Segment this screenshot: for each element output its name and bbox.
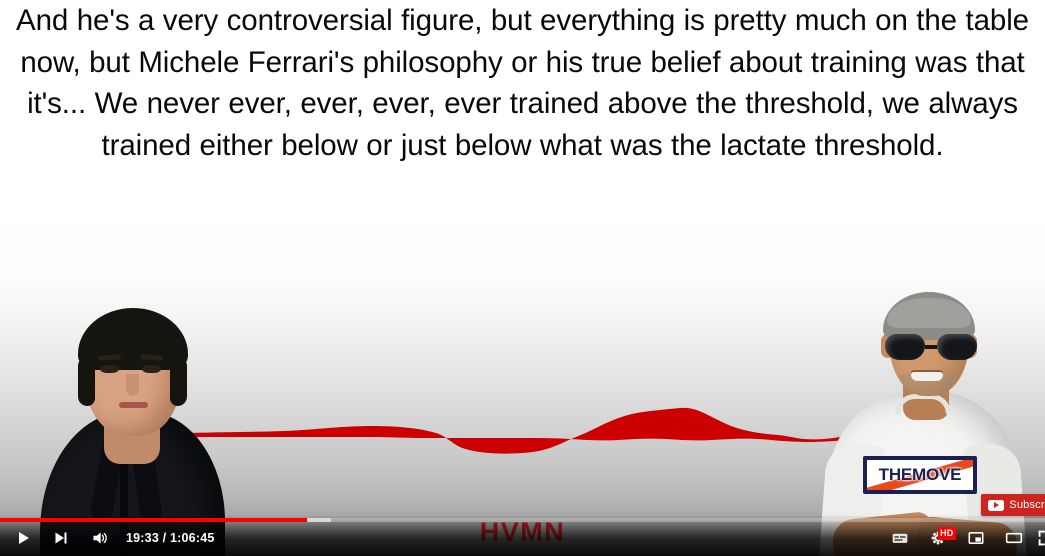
sunglasses-bridge [925,345,937,349]
left-speaker-nose [126,374,139,396]
fullscreen-button[interactable] [1033,519,1045,556]
duration: 1:06:45 [170,531,215,545]
themove-shirt-logo: THEMOVE [863,456,977,494]
video-stage[interactable]: HVMN [0,212,1045,556]
controls-button-row: 19:33 / 1:06:45 [0,519,1045,556]
right-speaker-collar [895,394,951,414]
controls-left-group: 19:33 / 1:06:45 [0,519,225,556]
controls-right-group: HD [881,519,1045,556]
audiogram-waveform [188,402,868,472]
time-display: 19:33 / 1:06:45 [118,531,225,545]
current-time: 19:33 [126,531,159,545]
player-controls-bar: 19:33 / 1:06:45 [0,515,1045,556]
speaker-left-avatar [12,212,247,556]
theater-mode-button[interactable] [995,519,1033,556]
miniplayer-button[interactable] [957,519,995,556]
sunglasses-lens-left [885,334,925,360]
themove-logo-text: THEMOVE [879,465,962,485]
subscribe-button[interactable]: Subscribe [981,494,1045,516]
left-speaker-hair [78,308,188,370]
hd-quality-badge: HD [938,527,956,540]
subtitles-button[interactable] [881,519,919,556]
play-button[interactable] [4,519,42,556]
subscribe-button-label: Subscribe [1009,499,1045,511]
left-speaker-mouth [119,402,148,408]
transcript-panel: And he's a very controversial figure, bu… [0,0,1045,212]
next-video-button[interactable] [42,519,80,556]
volume-button[interactable] [80,519,118,556]
youtube-play-icon [988,500,1004,511]
transcript-caption-text: And he's a very controversial figure, bu… [12,0,1033,166]
settings-button[interactable]: HD [919,519,957,556]
sunglasses-icon [885,334,977,360]
left-speaker-eye-right [142,365,161,373]
sunglasses-lens-right [937,334,977,360]
right-speaker-mouth [911,372,943,381]
video-player: And he's a very controversial figure, bu… [0,0,1045,556]
time-separator: / [159,531,170,545]
left-speaker-eye-left [100,365,119,373]
